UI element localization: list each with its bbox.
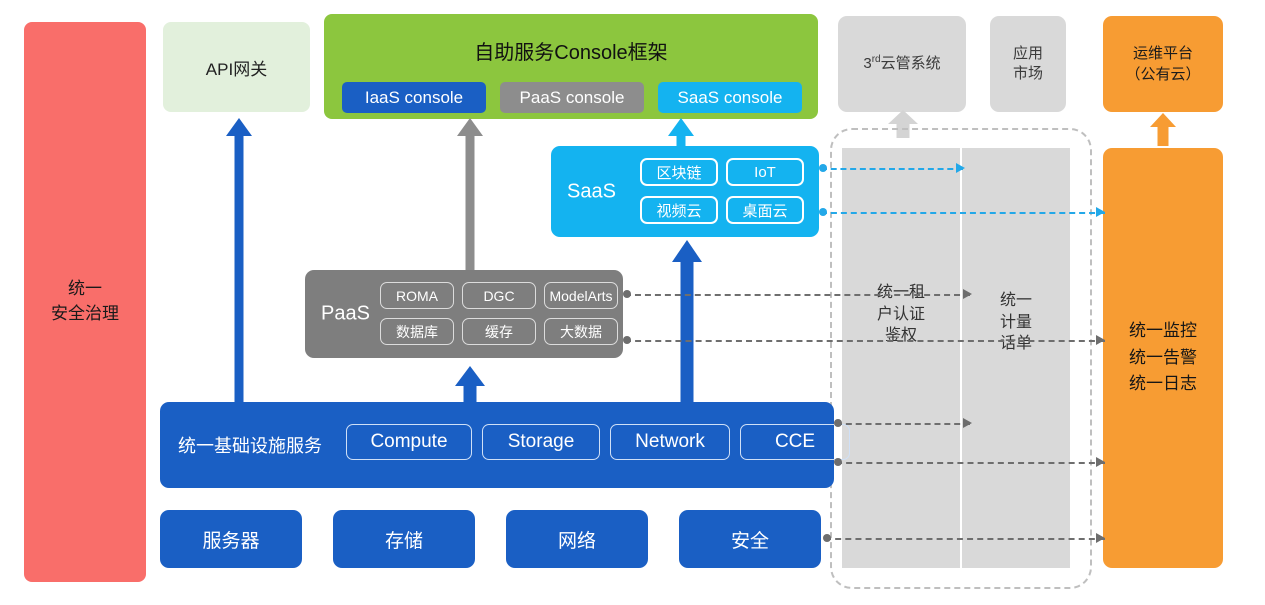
security-governance-line2: 安全治理 — [51, 302, 119, 327]
connector-infra-to-ops — [836, 462, 1105, 464]
ops-platform-public-cloud-box[interactable]: 运维平台 （公有云） — [1103, 16, 1223, 112]
paas-block: PaaS ROMA DGC ModelArts 数据库 缓存 大数据 — [305, 270, 623, 358]
paas-chip-database[interactable]: 数据库 — [380, 318, 454, 345]
infra-chip-storage[interactable]: Storage — [482, 424, 600, 460]
connector-hardware-to-ops-arrow — [1096, 533, 1105, 543]
saas-console-label: SaaS console — [678, 88, 783, 108]
connector-infra-to-ops-dot — [834, 458, 842, 466]
connector-hardware-to-ops-dot — [823, 534, 831, 542]
paas-chip-bigdata-label: 大数据 — [560, 322, 602, 342]
arrow-ops-panel-to-ops-platform — [1150, 113, 1176, 146]
infra-chip-cce-label: CCE — [775, 431, 815, 453]
connector-infra-to-ops-arrow — [1096, 457, 1105, 467]
saas-chip-video-cloud-label: 视频云 — [656, 200, 701, 221]
infra-chip-cce[interactable]: CCE — [740, 424, 850, 460]
saas-chip-desktop-cloud-label: 桌面云 — [742, 200, 787, 221]
hardware-box-server[interactable]: 服务器 — [160, 510, 302, 568]
auth-column-label: 统一租 户认证 鉴权 — [842, 282, 960, 347]
billing-column — [962, 148, 1070, 568]
api-gateway-box[interactable]: API网关 — [163, 22, 310, 112]
saas-chip-video-cloud[interactable]: 视频云 — [640, 196, 718, 224]
billing-line2: 计量 — [962, 312, 1070, 334]
arrow-infra-to-api-gateway — [226, 118, 252, 408]
connector-paas-to-ops-arrow — [1096, 335, 1105, 345]
auth-line3: 鉴权 — [842, 325, 960, 347]
iaas-console-label: IaaS console — [365, 88, 463, 108]
paas-chip-dgc[interactable]: DGC — [462, 282, 536, 309]
saas-chip-blockchain[interactable]: 区块链 — [640, 158, 718, 186]
app-market-line2: 市场 — [1013, 64, 1043, 84]
paas-chip-modelarts-label: ModelArts — [549, 288, 612, 304]
saas-chip-desktop-cloud[interactable]: 桌面云 — [726, 196, 804, 224]
security-governance-panel: 统一 安全治理 — [24, 22, 146, 582]
ops-monitoring-panel: 统一监控 统一告警 统一日志 — [1103, 148, 1223, 568]
infra-chip-network[interactable]: Network — [610, 424, 730, 460]
hardware-server-label: 服务器 — [202, 526, 259, 553]
paas-console-chip[interactable]: PaaS console — [500, 82, 644, 113]
paas-chip-bigdata[interactable]: 大数据 — [544, 318, 618, 345]
app-market-line1: 应用 — [1013, 44, 1043, 64]
connector-saas-to-billing-arrow — [956, 163, 965, 173]
arrow-paas-to-console — [457, 118, 483, 270]
connector-paas-to-auth-dot — [623, 290, 631, 298]
paas-chip-cache[interactable]: 缓存 — [462, 318, 536, 345]
connector-infra-to-auth — [836, 423, 970, 425]
saas-label: SaaS — [567, 180, 616, 203]
paas-label: PaaS — [321, 303, 370, 326]
infra-chip-storage-label: Storage — [508, 431, 575, 453]
unified-infrastructure-label: 统一基础设施服务 — [178, 432, 322, 458]
ops-platform-line2: （公有云） — [1125, 64, 1200, 85]
ops-platform-line1: 运维平台 — [1133, 43, 1193, 64]
third-party-cloud-mgmt-label: 3rd云管系统 — [863, 53, 940, 74]
hardware-box-network[interactable]: 网络 — [506, 510, 648, 568]
console-framework-title: 自助服务Console框架 — [324, 36, 818, 65]
paas-chip-modelarts[interactable]: ModelArts — [544, 282, 618, 309]
hardware-box-storage[interactable]: 存储 — [333, 510, 475, 568]
infra-chip-network-label: Network — [635, 431, 705, 453]
architecture-diagram: 统一 安全治理 API网关 自助服务Console框架 IaaS console… — [0, 0, 1265, 605]
connector-hardware-to-ops — [825, 538, 1105, 540]
ops-monitor-line1: 统一监控 — [1129, 318, 1197, 344]
iaas-console-chip[interactable]: IaaS console — [342, 82, 486, 113]
connector-paas-to-auth — [625, 294, 970, 296]
connector-saas-to-billing-dot — [819, 164, 827, 172]
paas-console-label: PaaS console — [520, 88, 625, 108]
hardware-network-label: 网络 — [558, 526, 596, 553]
ops-monitor-line2: 统一告警 — [1129, 345, 1197, 371]
connector-saas-to-ops-arrow — [1096, 207, 1105, 217]
connector-saas-to-ops — [821, 212, 1105, 214]
connector-paas-to-auth-arrow — [963, 289, 972, 299]
saas-chip-iot-label: IoT — [754, 164, 776, 181]
billing-line1: 统一 — [962, 290, 1070, 312]
api-gateway-label: API网关 — [206, 55, 267, 80]
connector-saas-to-ops-dot — [819, 208, 827, 216]
unified-infrastructure-bar: 统一基础设施服务 Compute Storage Network CCE — [160, 402, 834, 488]
hardware-security-label: 安全 — [731, 526, 769, 553]
paas-chip-roma[interactable]: ROMA — [380, 282, 454, 309]
connector-paas-to-ops — [625, 340, 1105, 342]
connector-saas-to-billing — [821, 168, 963, 170]
paas-chip-dgc-label: DGC — [483, 288, 514, 304]
saas-block: SaaS 区块链 IoT 视频云 桌面云 — [551, 146, 819, 237]
app-market-box[interactable]: 应用 市场 — [990, 16, 1066, 112]
infra-chip-compute-label: Compute — [370, 431, 447, 453]
hardware-storage-label: 存储 — [385, 526, 423, 553]
hardware-box-security[interactable]: 安全 — [679, 510, 821, 568]
auth-line2: 户认证 — [842, 304, 960, 326]
auth-line1: 统一租 — [842, 282, 960, 304]
third-party-cloud-mgmt-box[interactable]: 3rd云管系统 — [838, 16, 966, 112]
saas-chip-iot[interactable]: IoT — [726, 158, 804, 186]
billing-column-label: 统一 计量 话单 — [962, 290, 1070, 355]
arrow-infra-to-saas — [672, 240, 702, 408]
security-governance-line1: 统一 — [68, 277, 102, 302]
infra-chip-compute[interactable]: Compute — [346, 424, 472, 460]
paas-chip-cache-label: 缓存 — [485, 322, 513, 342]
paas-chip-database-label: 数据库 — [396, 322, 438, 342]
connector-paas-to-ops-dot — [623, 336, 631, 344]
saas-console-chip[interactable]: SaaS console — [658, 82, 802, 113]
connector-infra-to-auth-dot — [834, 419, 842, 427]
ops-monitor-line3: 统一日志 — [1129, 371, 1197, 397]
console-framework-box: 自助服务Console框架 IaaS console PaaS console … — [324, 14, 818, 119]
auth-column — [842, 148, 960, 568]
connector-infra-to-auth-arrow — [963, 418, 972, 428]
paas-chip-roma-label: ROMA — [396, 288, 438, 304]
billing-line3: 话单 — [962, 333, 1070, 355]
saas-chip-blockchain-label: 区块链 — [656, 162, 701, 183]
